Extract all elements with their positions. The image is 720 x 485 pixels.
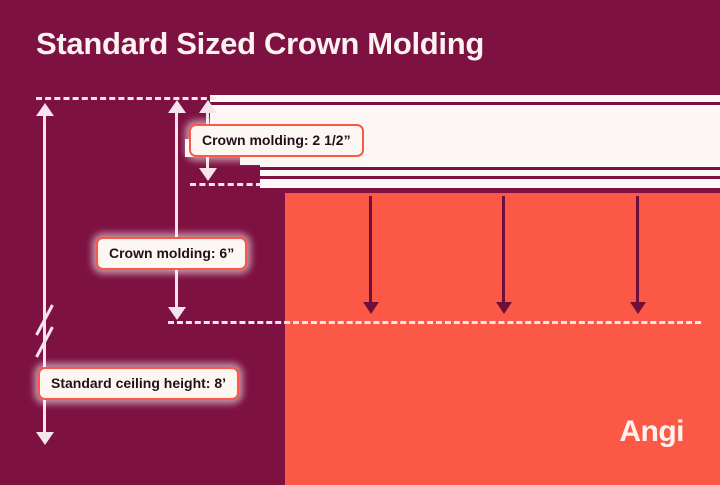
wall-drop-arrow-2-shaft (502, 196, 505, 304)
wall-drop-arrow-2-head (496, 302, 512, 314)
angi-logo: Angi (619, 415, 684, 449)
crown-large-arrow-bottom-head (168, 307, 186, 320)
crown-small-arrow-bottom-head (199, 168, 217, 181)
ceiling-arrow-bottom-head (36, 432, 54, 445)
guide-molding-large-bottom (168, 321, 701, 324)
infographic-canvas: Standard Sized Crown Molding (0, 0, 720, 485)
crown-large-arrow-shaft (175, 109, 178, 309)
wall-drop-arrow-3-shaft (636, 196, 639, 304)
molding-band-1 (185, 95, 720, 102)
guide-molding-small-bottom (190, 183, 262, 186)
label-crown-molding-large: Crown molding: 6” (96, 237, 247, 270)
molding-groove-4 (185, 188, 720, 191)
guide-ceiling-top (36, 97, 216, 100)
label-crown-molding-small: Crown molding: 2 1/2” (189, 124, 364, 157)
wall-drop-arrow-3-head (630, 302, 646, 314)
wall-drop-arrow-1-shaft (369, 196, 372, 304)
label-standard-ceiling-height: Standard ceiling height: 8’ (38, 367, 239, 400)
molding-band-4 (185, 179, 720, 188)
page-title: Standard Sized Crown Molding (36, 26, 484, 62)
wall-drop-arrow-1-head (363, 302, 379, 314)
